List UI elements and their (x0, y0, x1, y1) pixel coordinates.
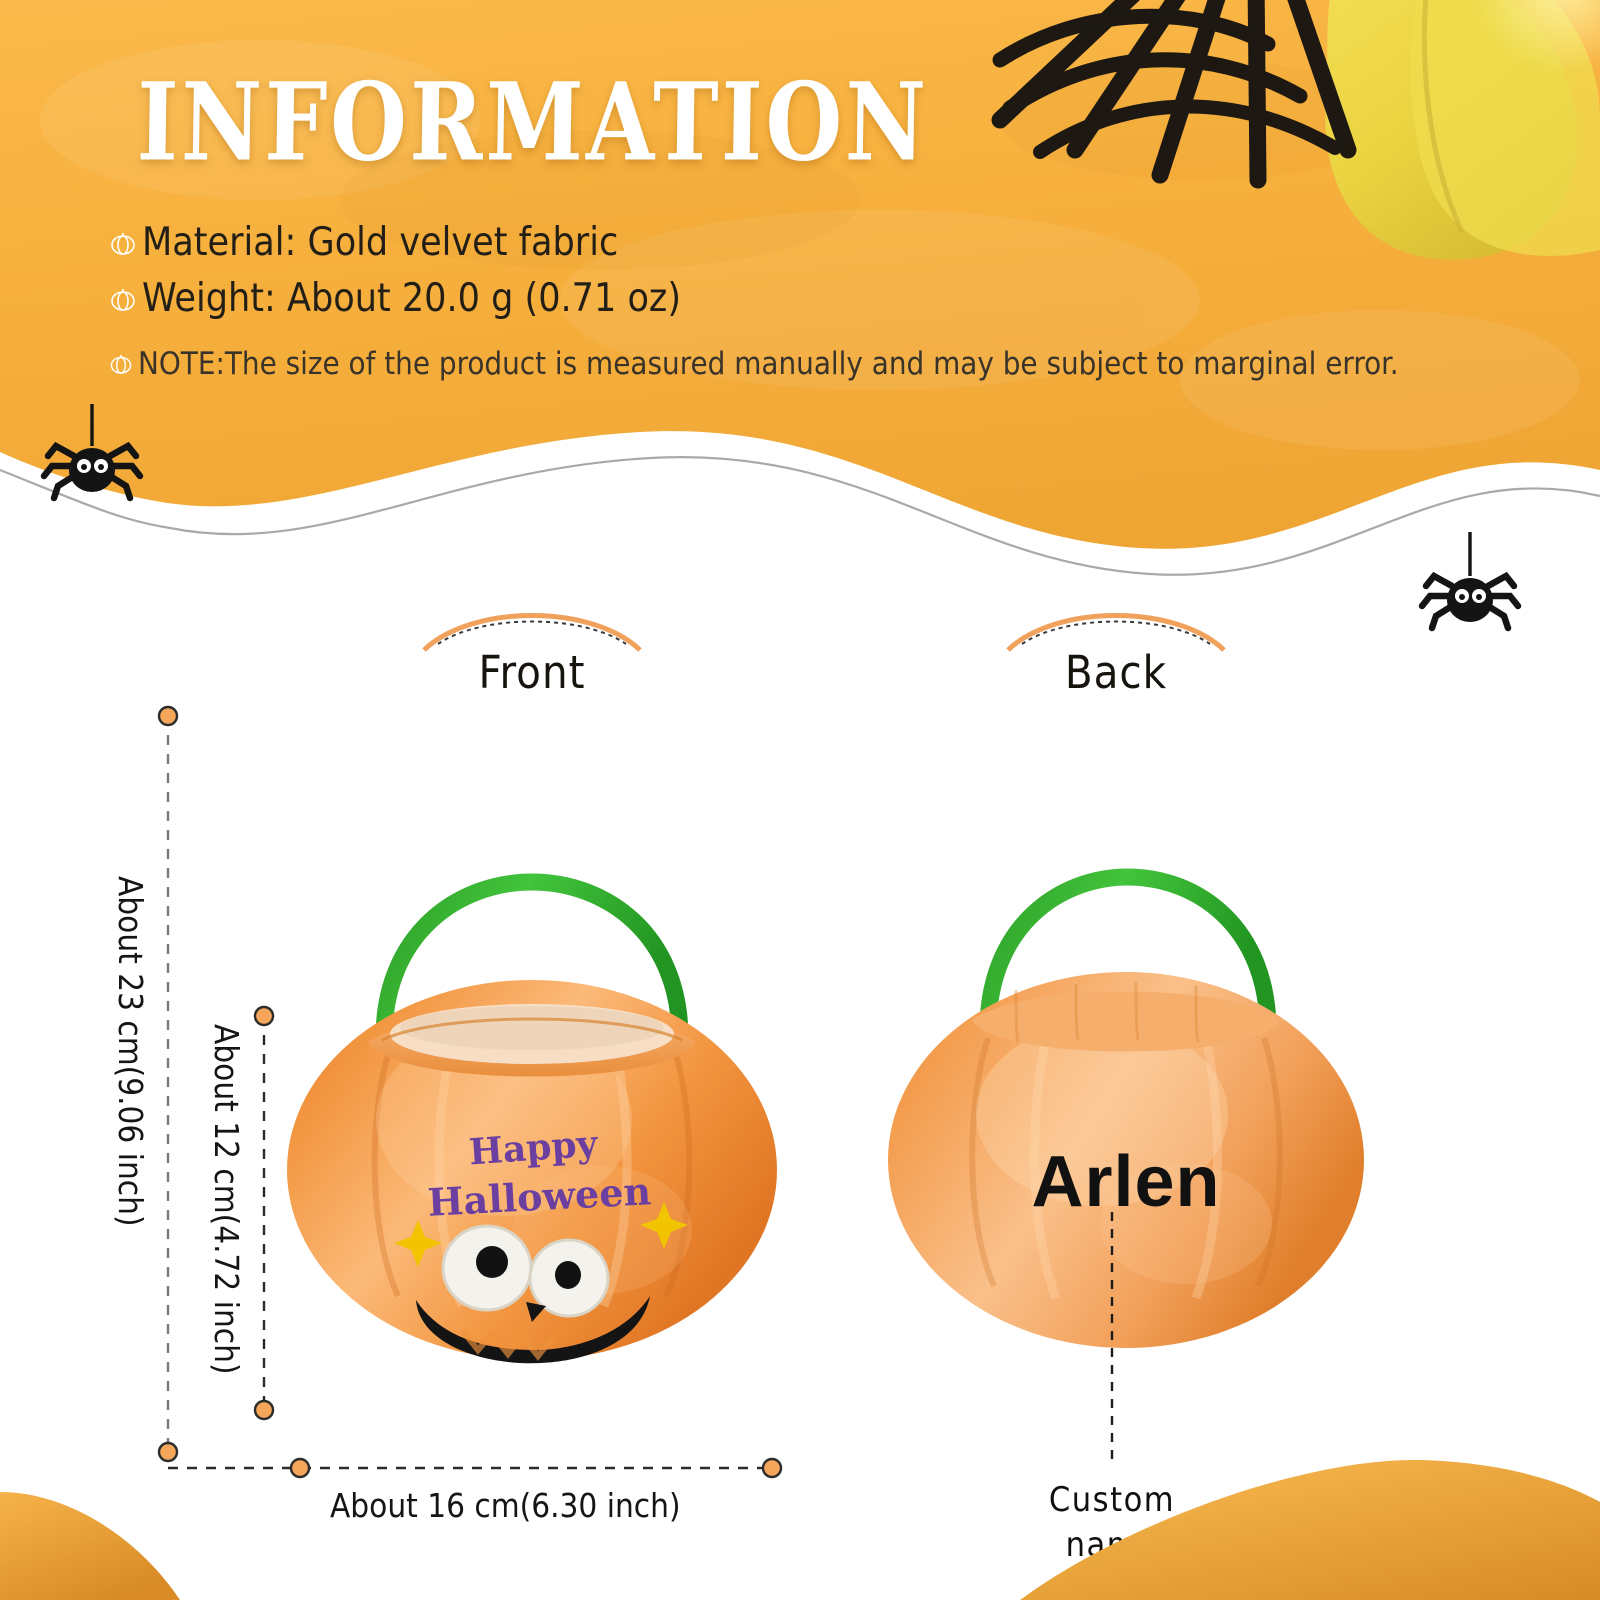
height-body-label: About 12 cm(4.72 inch) (207, 1024, 246, 1375)
footer-waves (0, 1440, 1600, 1600)
height-total-label: About 23 cm(9.06 inch) (111, 876, 150, 1227)
infographic-page: INFORMATION Material: Gold velvet fabric (0, 0, 1600, 1600)
